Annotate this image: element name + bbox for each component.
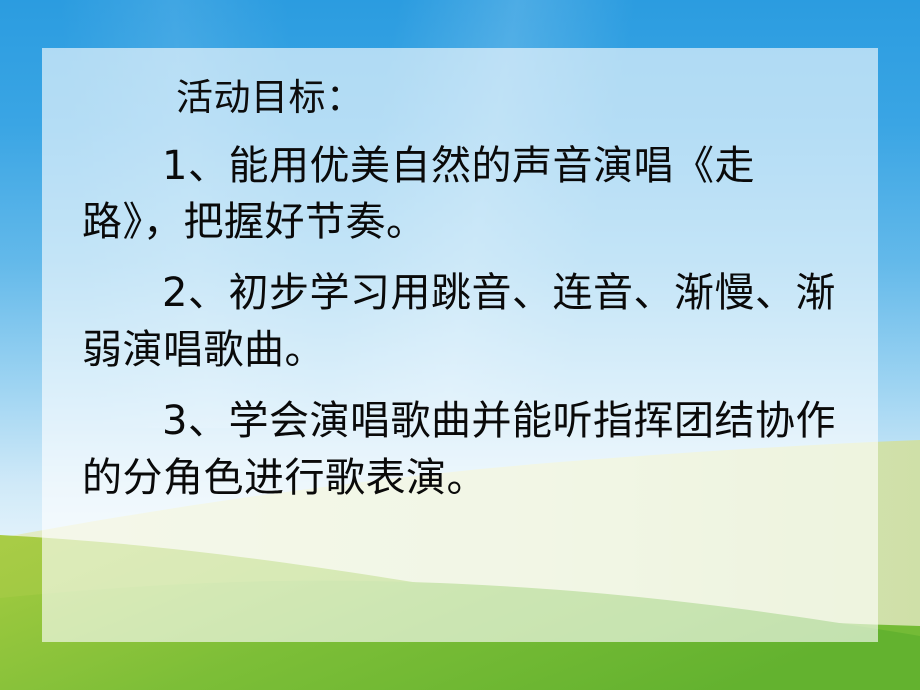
content-panel: 活动目标： 1、能用优美自然的声音演唱《走路》，把握好节奏。 2、初步学习用跳音…: [42, 48, 878, 642]
slide-canvas: 活动目标： 1、能用优美自然的声音演唱《走路》，把握好节奏。 2、初步学习用跳音…: [0, 0, 920, 690]
page-title: 活动目标：: [82, 76, 842, 120]
goal-item: 2、初步学习用跳音、连音、渐慢、渐弱演唱歌曲。: [82, 265, 842, 379]
goal-item: 1、能用优美自然的声音演唱《走路》，把握好节奏。: [82, 138, 842, 252]
content-panel-body: 活动目标： 1、能用优美自然的声音演唱《走路》，把握好节奏。 2、初步学习用跳音…: [82, 76, 842, 506]
goal-item: 3、学会演唱歌曲并能听指挥团结协作的分角色进行歌表演。: [82, 393, 842, 507]
